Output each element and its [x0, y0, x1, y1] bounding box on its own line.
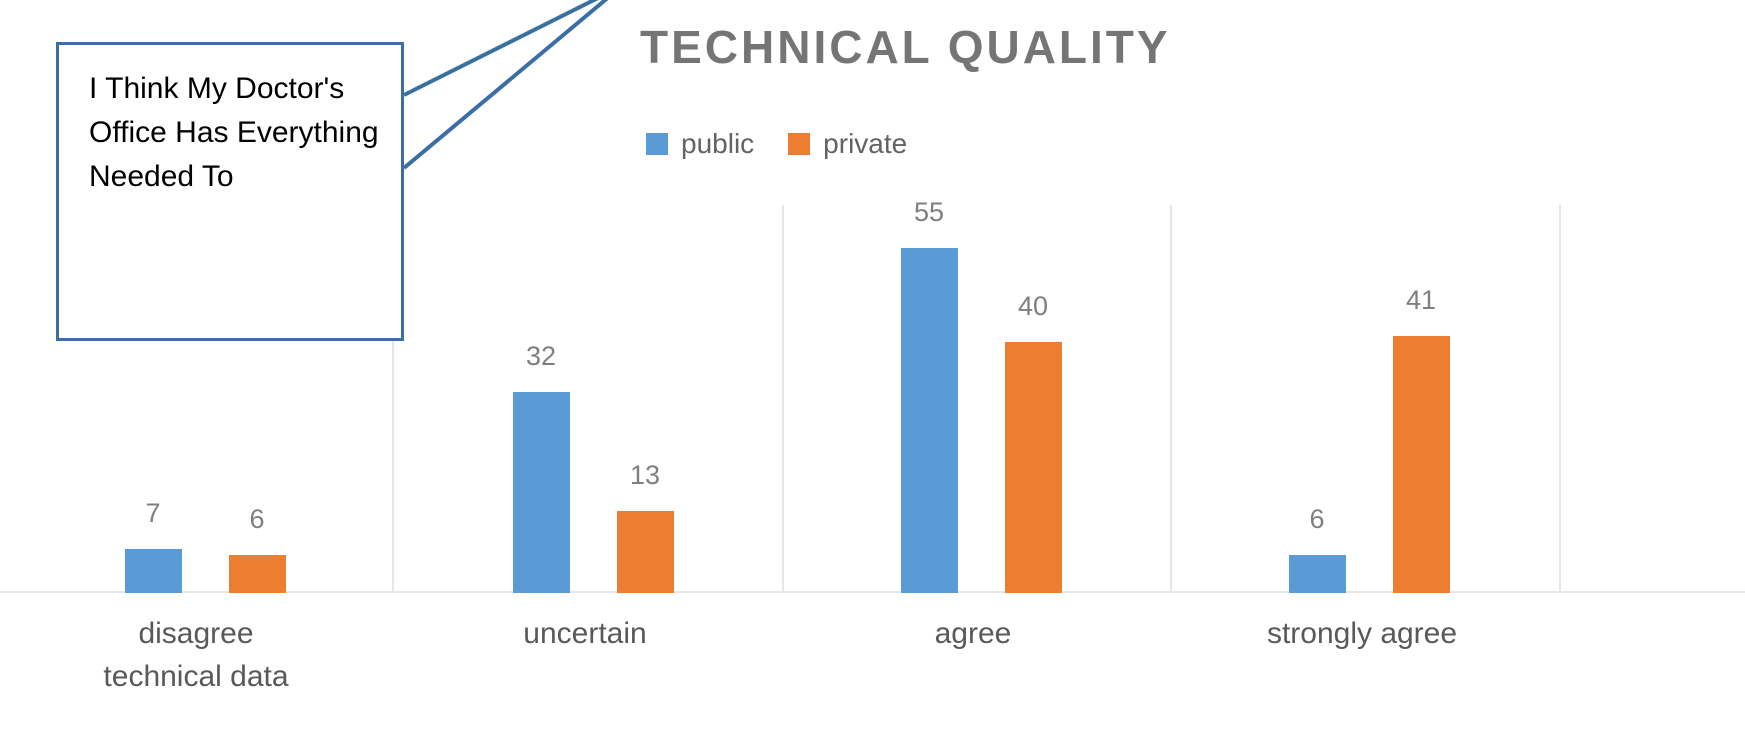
- category-label-uncertain: uncertain: [385, 613, 785, 656]
- bar-private-strongly-agree[interactable]: [1393, 336, 1450, 593]
- bar-label-private-disagree: 6: [197, 506, 317, 533]
- bar-private-uncertain[interactable]: [617, 511, 674, 593]
- bar-label-public-agree: 55: [869, 199, 989, 226]
- chart-canvas: TECHNICAL QUALITY public private 7 6 32: [0, 0, 1745, 754]
- bar-public-uncertain[interactable]: [513, 392, 570, 593]
- category-label-agree-line1: agree: [935, 617, 1012, 650]
- legend-swatch-public-icon: [646, 133, 668, 155]
- bar-private-disagree[interactable]: [229, 555, 286, 593]
- legend-entry-private[interactable]: private: [788, 130, 907, 158]
- category-label-strongly-agree: strongly agree: [1162, 613, 1562, 656]
- category-label-strongly-agree-line1: strongly agree: [1267, 617, 1457, 650]
- callout-text: I Think My Doctor's Office Has Everythin…: [89, 67, 379, 199]
- bar-label-private-strongly-agree: 41: [1361, 287, 1481, 314]
- category-axis-labels: disagree technical data uncertain agree …: [0, 607, 1745, 754]
- legend-entry-public[interactable]: public: [646, 130, 754, 158]
- chart-legend: public private: [646, 130, 907, 158]
- bar-label-private-uncertain: 13: [585, 462, 705, 489]
- bar-label-public-uncertain: 32: [481, 343, 601, 370]
- legend-label-private: private: [823, 130, 907, 158]
- bar-public-strongly-agree[interactable]: [1289, 555, 1346, 593]
- category-label-uncertain-line1: uncertain: [523, 617, 646, 650]
- legend-swatch-private-icon: [788, 133, 810, 155]
- callout-box[interactable]: I Think My Doctor's Office Has Everythin…: [56, 42, 404, 341]
- category-label-disagree: disagree technical data: [0, 613, 396, 698]
- bar-public-agree[interactable]: [901, 248, 958, 593]
- legend-label-public: public: [681, 130, 754, 158]
- bar-label-public-strongly-agree: 6: [1257, 506, 1377, 533]
- category-label-agree: agree: [773, 613, 1173, 656]
- category-label-disagree-line2: technical data: [0, 656, 396, 699]
- bar-private-agree[interactable]: [1005, 342, 1062, 593]
- bar-public-disagree[interactable]: [125, 549, 182, 593]
- category-label-disagree-line1: disagree: [138, 617, 253, 650]
- bar-label-private-agree: 40: [973, 293, 1093, 320]
- bar-label-public-disagree: 7: [93, 500, 213, 527]
- chart-title: TECHNICAL QUALITY: [640, 22, 1240, 73]
